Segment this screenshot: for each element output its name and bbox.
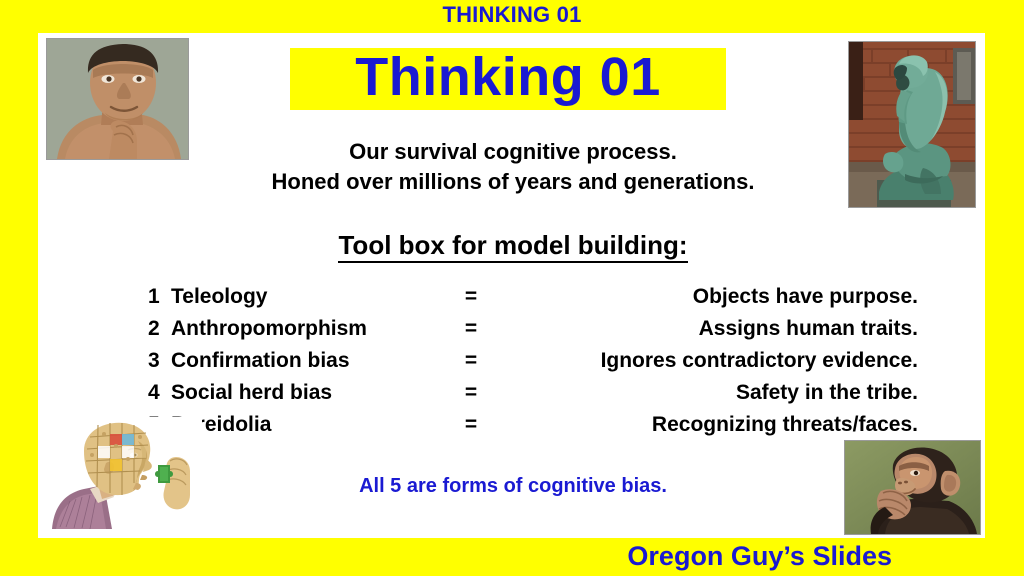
- tool-definition: Safety in the tribe.: [485, 377, 958, 409]
- tool-name: Anthropomorphism: [164, 313, 457, 345]
- tool-number: 1: [148, 281, 164, 313]
- tool-number: 4: [148, 377, 164, 409]
- equals-sign: =: [457, 281, 485, 313]
- slide-content-panel: Thinking 01 Our survival cognitive proce…: [38, 33, 985, 538]
- list-item: 5 Pareidolia = Recognizing threats/faces…: [148, 409, 958, 441]
- subtitle-line-1: Our survival cognitive process.: [98, 137, 928, 167]
- tool-number: 3: [148, 345, 164, 377]
- slide-header-title: THINKING 01: [0, 2, 1024, 28]
- slide-subtitle: Our survival cognitive process. Honed ov…: [98, 137, 928, 197]
- tool-name: Pareidolia: [164, 409, 457, 441]
- slide-footer-credit: Oregon Guy’s Slides: [0, 538, 892, 574]
- tool-name: Teleology: [164, 281, 457, 313]
- slide-canvas: THINKING 01: [0, 0, 1024, 576]
- tool-definition: Objects have purpose.: [485, 281, 958, 313]
- section-heading: Tool box for model building:: [98, 229, 928, 261]
- slide-main-title: Thinking 01: [290, 44, 726, 110]
- thinking-chimpanzee-photo: [844, 440, 981, 535]
- tool-name: Social herd bias: [164, 377, 457, 409]
- tool-definition: Assigns human traits.: [485, 313, 958, 345]
- equals-sign: =: [457, 409, 485, 441]
- list-item: 1 Teleology = Objects have purpose.: [148, 281, 958, 313]
- tool-name: Confirmation bias: [164, 345, 457, 377]
- equals-sign: =: [457, 345, 485, 377]
- equals-sign: =: [457, 377, 485, 409]
- equals-sign: =: [457, 313, 485, 345]
- list-item: 2 Anthropomorphism = Assigns human trait…: [148, 313, 958, 345]
- cognitive-tool-list: 1 Teleology = Objects have purpose. 2 An…: [148, 281, 958, 441]
- subtitle-line-2: Honed over millions of years and generat…: [98, 167, 928, 197]
- slide-footnote: All 5 are forms of cognitive bias.: [98, 473, 928, 499]
- tool-definition: Recognizing threats/faces.: [485, 409, 958, 441]
- tool-number: 2: [148, 313, 164, 345]
- list-item: 4 Social herd bias = Safety in the tribe…: [148, 377, 958, 409]
- list-item: 3 Confirmation bias = Ignores contradict…: [148, 345, 958, 377]
- section-heading-text: Tool box for model building:: [338, 230, 687, 263]
- tool-definition: Ignores contradictory evidence.: [485, 345, 958, 377]
